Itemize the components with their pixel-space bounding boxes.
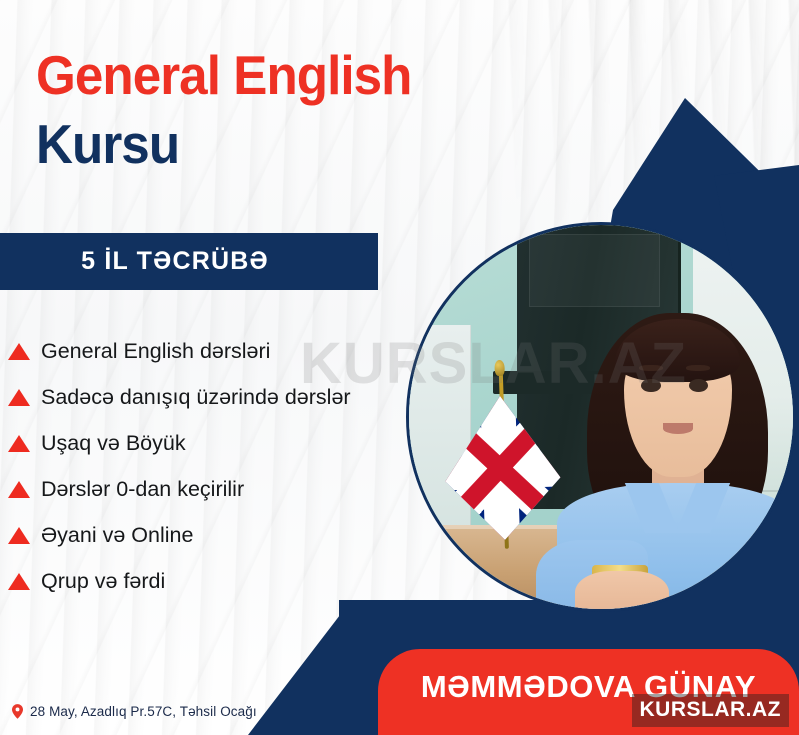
instructor-nameplate: MƏMMƏDOVA GÜNAY bbox=[378, 649, 799, 735]
title-line-english: General English bbox=[36, 48, 411, 103]
list-item: General English dərsləri bbox=[8, 328, 351, 374]
list-item: Dərslər 0-dan keçirilir bbox=[8, 466, 351, 512]
feature-label: Əyani və Online bbox=[41, 523, 193, 548]
feature-label: Sadəcə danışıq üzərində dərslər bbox=[41, 385, 351, 410]
address-text: 28 May, Azadlıq Pr.57C, Təhsil Ocağı bbox=[30, 704, 257, 719]
eyebrow-right bbox=[686, 365, 710, 371]
flag-cloth bbox=[437, 394, 562, 542]
eyebrow-left bbox=[639, 365, 663, 371]
uk-flag-icon bbox=[437, 388, 562, 542]
list-item: Uşaq və Böyük bbox=[8, 420, 351, 466]
feature-label: Qrup və fərdi bbox=[41, 569, 165, 594]
location-pin-icon bbox=[12, 704, 23, 719]
triangle-icon bbox=[8, 389, 30, 406]
list-item: Əyani və Online bbox=[8, 512, 351, 558]
hands bbox=[575, 571, 670, 609]
feature-label: Uşaq və Böyük bbox=[41, 431, 186, 456]
triangle-icon bbox=[8, 435, 30, 452]
triangle-icon bbox=[8, 343, 30, 360]
mouth bbox=[663, 423, 693, 434]
instructor-photo bbox=[409, 225, 793, 609]
triangle-icon bbox=[8, 481, 30, 498]
feature-label: Dərslər 0-dan keçirilir bbox=[41, 477, 244, 502]
instructor-photo-circle bbox=[406, 222, 796, 612]
address-line: 28 May, Azadlıq Pr.57C, Təhsil Ocağı bbox=[12, 704, 257, 719]
list-item: Qrup və fərdi bbox=[8, 558, 351, 604]
flag-finial bbox=[494, 360, 505, 376]
course-poster: General English Kursu 5 İL TƏCRÜBƏ Gener… bbox=[0, 0, 799, 735]
eye-left bbox=[641, 379, 660, 392]
instructor-figure bbox=[570, 294, 785, 609]
title-line-kursu: Kursu bbox=[36, 117, 411, 172]
feature-list: General English dərsləri Sadəcə danışıq … bbox=[8, 328, 351, 604]
experience-badge: 5 İL TƏCRÜBƏ bbox=[0, 233, 378, 290]
feature-label: General English dərsləri bbox=[41, 339, 270, 364]
instructor-name: MƏMMƏDOVA GÜNAY bbox=[421, 669, 756, 715]
triangle-icon bbox=[8, 573, 30, 590]
experience-badge-label: 5 İL TƏCRÜBƏ bbox=[81, 247, 269, 276]
poster-title: General English Kursu bbox=[36, 48, 440, 172]
triangle-icon bbox=[8, 527, 30, 544]
list-item: Sadəcə danışıq üzərində dərslər bbox=[8, 374, 351, 420]
